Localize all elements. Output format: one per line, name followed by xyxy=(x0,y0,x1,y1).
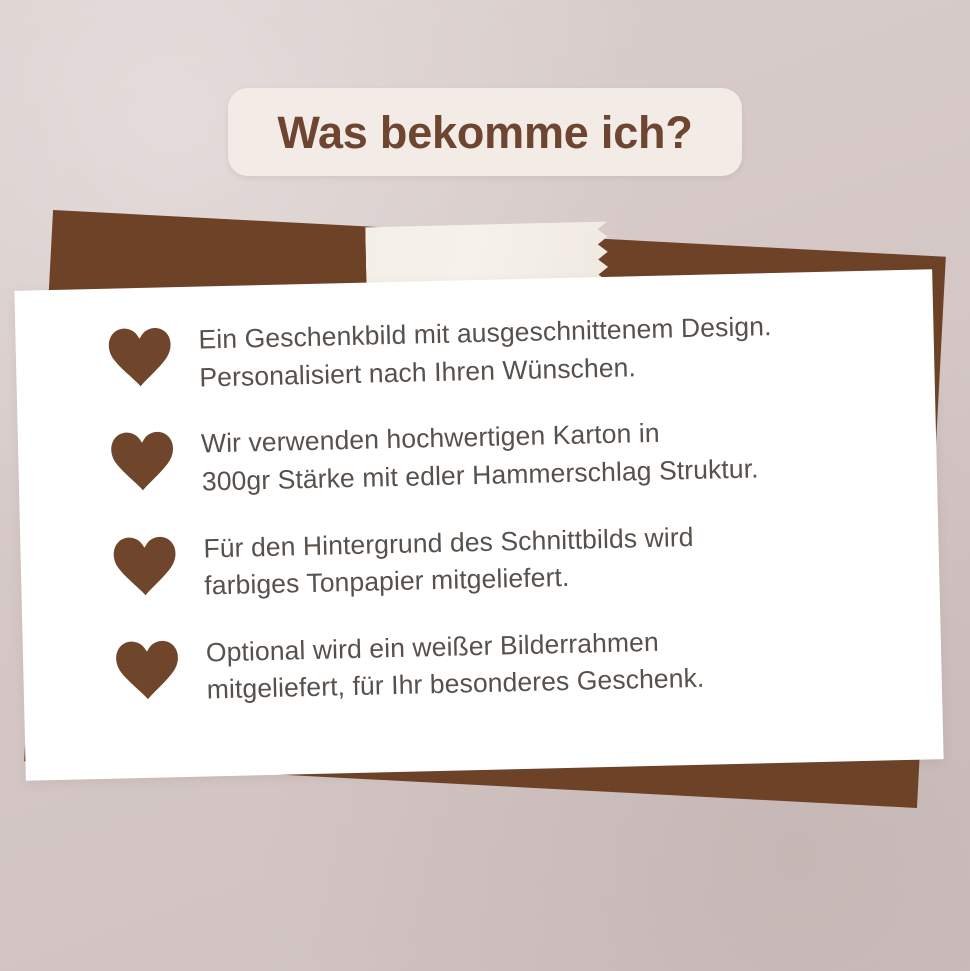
heart-icon xyxy=(107,324,172,387)
heart-icon xyxy=(115,637,180,700)
list-item-text: Optional wird ein weißer Bilderrahmen mi… xyxy=(205,621,704,710)
list-item-text: Ein Geschenkbild mit ausgeschnittenem De… xyxy=(198,306,773,397)
heart-icon xyxy=(112,533,177,596)
slide-canvas: Was bekomme ich? Ein Geschenkbild mit au… xyxy=(0,0,970,971)
title-pill: Was bekomme ich? xyxy=(228,88,742,176)
heart-icon xyxy=(110,428,175,491)
list-item-text: Für den Hintergrund des Schnittbilds wir… xyxy=(203,516,695,605)
page-title: Was bekomme ich? xyxy=(277,110,692,155)
benefits-list: Ein Geschenkbild mit ausgeschnittenem De… xyxy=(107,303,902,711)
list-item: Wir verwenden hochwertigen Karton in 300… xyxy=(110,407,898,503)
list-item: Optional wird ein weißer Bilderrahmen mi… xyxy=(114,616,902,712)
list-item: Für den Hintergrund des Schnittbilds wir… xyxy=(112,512,900,608)
content-card: Ein Geschenkbild mit ausgeschnittenem De… xyxy=(14,269,943,780)
list-item-text: Wir verwenden hochwertigen Karton in 300… xyxy=(201,411,759,501)
list-item: Ein Geschenkbild mit ausgeschnittenem De… xyxy=(107,303,895,399)
